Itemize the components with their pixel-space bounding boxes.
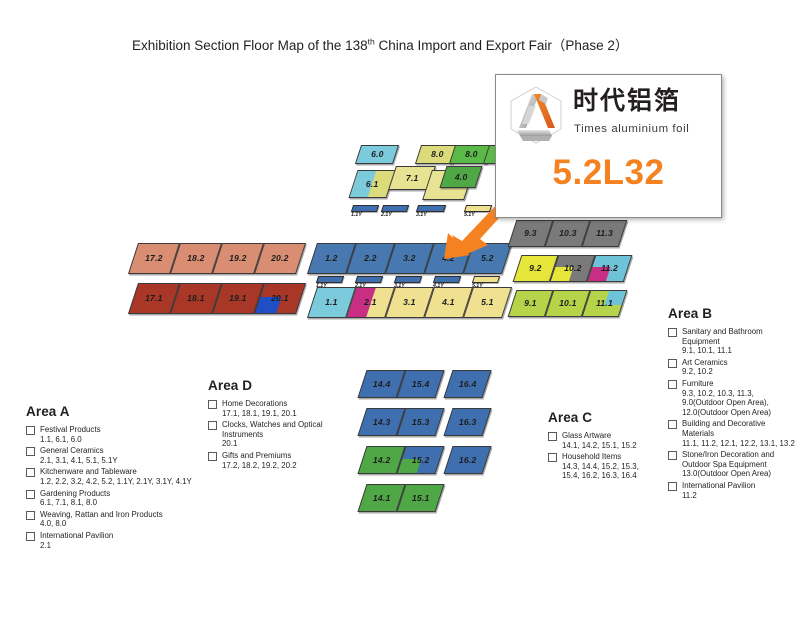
- legend-color-swatch: [668, 359, 677, 368]
- legend-item-name: Gifts and Premiums: [222, 451, 348, 461]
- booth-block-label: 7.1: [406, 174, 419, 183]
- connector-label-1-1Y: 1.1Y: [351, 212, 362, 218]
- booth-block-label: 19.1: [229, 294, 247, 303]
- connector-bar-3-1Y[interactable]: [394, 276, 422, 283]
- booth-block-5-1[interactable]: 5.1: [463, 287, 512, 318]
- connector-bar-1-1Y[interactable]: [316, 276, 344, 283]
- booth-block-16-4[interactable]: 16.4: [443, 370, 491, 398]
- legend-item-area-b-4[interactable]: Stone/Iron Decoration and Outdoor Spa Eq…: [668, 450, 796, 479]
- legend-item-area-a-5[interactable]: International Pavilion2.1: [26, 531, 206, 550]
- legend-item-name: Home Decorations: [222, 399, 348, 409]
- legend-item-codes: 1.1, 6.1, 6.0: [40, 435, 206, 445]
- legend-item-codes: 2.1, 3.1, 4.1, 5.1, 5.1Y: [40, 456, 206, 466]
- legend-color-swatch: [548, 432, 557, 441]
- booth-block-label: 15.4: [412, 380, 430, 389]
- legend-area-c-heading: Area C: [548, 410, 658, 425]
- legend-item-codes: 6.1, 7.1, 8.1, 8.0: [40, 498, 206, 508]
- booth-block-6-1[interactable]: 6.1: [348, 170, 395, 198]
- legend-item-area-b-3[interactable]: Building and Decorative Materials11.1, 1…: [668, 419, 796, 448]
- legend-item-name: Kitchenware and Tableware: [40, 467, 206, 477]
- booth-block-label: 14.2: [373, 456, 391, 465]
- booth-block-20-2[interactable]: 20.2: [254, 243, 306, 274]
- legend-item-codes: 4.0, 8.0: [40, 519, 206, 529]
- legend-color-swatch: [208, 421, 217, 430]
- booth-block-label: 17.2: [145, 254, 163, 263]
- booth-block-label: 10.3: [559, 229, 577, 238]
- legend-item-area-a-3[interactable]: Gardening Products6.1, 7.1, 8.1, 8.0: [26, 489, 206, 508]
- title-text-before: Exhibition Section Floor Map of the 138: [132, 38, 368, 53]
- legend-color-swatch: [548, 453, 557, 462]
- booth-block-15-3[interactable]: 15.3: [396, 408, 444, 436]
- booth-block-split-fill: [588, 267, 611, 281]
- legend-item-area-c-0[interactable]: Glass Artware14.1, 14.2, 15.1, 15.2: [548, 431, 658, 450]
- booth-block-label: 14.4: [373, 380, 391, 389]
- connector-label-3-1Y: 3.1Y: [394, 283, 405, 289]
- connector-bar-4-1Y[interactable]: [433, 276, 461, 283]
- booth-block-label: 11.3: [596, 229, 613, 238]
- booth-block-16-2[interactable]: 16.2: [443, 446, 491, 474]
- booth-block-label: 15.3: [412, 418, 430, 427]
- booth-block-6-0[interactable]: 6.0: [355, 145, 399, 164]
- legend-color-swatch: [26, 426, 35, 435]
- legend-color-swatch: [26, 447, 35, 456]
- legend-item-codes: 1.2, 2.2, 3.2, 4.2, 5.2, 1.1Y, 2.1Y, 3.1…: [40, 477, 206, 487]
- booth-block-20-1[interactable]: 20.1: [254, 283, 306, 314]
- legend-item-area-b-0[interactable]: Sanitary and Bathroom Equipment9.1, 10.1…: [668, 327, 796, 356]
- legend-item-codes: 14.1, 14.2, 15.1, 15.2: [562, 441, 658, 451]
- connector-label-4-1Y: 4.1Y: [433, 283, 444, 289]
- exhibitor-logo-card: 时代铝箔 Times aluminium foil 5.2L32: [495, 74, 722, 218]
- connector-bar-2-1Y[interactable]: [355, 276, 383, 283]
- booth-block-label: 8.0: [431, 150, 444, 159]
- booth-block-label: 18.2: [187, 254, 205, 263]
- legend-color-swatch: [668, 420, 677, 429]
- legend-item-area-b-1[interactable]: Art Ceramics9.2, 10.2: [668, 358, 796, 377]
- booth-block-15-4[interactable]: 15.4: [396, 370, 444, 398]
- booth-block-label: 3.2: [403, 254, 416, 263]
- booth-block-label: 4.0: [455, 173, 468, 182]
- legend-color-swatch: [26, 490, 35, 499]
- legend-area-d: Area D Home Decorations17.1, 18.1, 19.1,…: [208, 378, 348, 472]
- legend-item-name: Building and Decorative Materials: [682, 419, 796, 438]
- booth-block-label: 14.1: [373, 494, 391, 503]
- booth-block-label: 9.2: [529, 264, 542, 273]
- booth-block-label: 3.1: [403, 298, 416, 307]
- legend-item-name: Household Items: [562, 452, 658, 462]
- booth-block-split-fill: [398, 459, 422, 473]
- legend-item-codes: 17.1, 18.1, 19.1, 20.1: [222, 409, 348, 419]
- legend-item-name: Furniture: [682, 379, 796, 389]
- booth-block-16-3[interactable]: 16.3: [443, 408, 491, 436]
- booth-block-label: 18.1: [187, 294, 205, 303]
- booth-block-11-1[interactable]: 11.1: [582, 290, 628, 317]
- booth-block-11-3[interactable]: 11.3: [582, 220, 628, 247]
- title-text-after: China Import and Export Fair（Phase 2）: [379, 38, 629, 53]
- legend-item-area-a-2[interactable]: Kitchenware and Tableware1.2, 2.2, 3.2, …: [26, 467, 206, 486]
- booth-block-label: 15.1: [412, 494, 430, 503]
- legend-item-area-b-2[interactable]: Furniture9.3, 10.2, 10.3, 11.3, 9.0(Outd…: [668, 379, 796, 417]
- legend-item-area-d-1[interactable]: Clocks, Watches and Optical Instruments2…: [208, 420, 348, 449]
- legend-area-d-heading: Area D: [208, 378, 348, 393]
- legend-item-codes: 9.3, 10.2, 10.3, 11.3, 9.0(Outdoor Open …: [682, 389, 796, 418]
- legend-item-codes: 17.2, 18.2, 19.2, 20.2: [222, 461, 348, 471]
- connector-label-3-1Y: 3.1Y: [416, 212, 427, 218]
- booth-block-label: 1.2: [325, 254, 338, 263]
- legend-item-area-a-1[interactable]: General Ceramics2.1, 3.1, 4.1, 5.1, 5.1Y: [26, 446, 206, 465]
- logo-header-row: 时代铝箔 Times aluminium foil: [505, 84, 713, 146]
- connector-label-5-1Y: 5.1Y: [472, 283, 483, 289]
- legend-item-area-a-4[interactable]: Weaving, Rattan and Iron Products4.0, 8.…: [26, 510, 206, 529]
- legend-item-name: Festival Products: [40, 425, 206, 435]
- legend-item-codes: 9.1, 10.1, 11.1: [682, 346, 796, 356]
- booth-block-label: 4.1: [442, 298, 455, 307]
- booth-block-label: 9.3: [524, 229, 537, 238]
- brand-name-english: Times aluminium foil: [574, 123, 689, 135]
- legend-area-b-heading: Area B: [668, 306, 796, 321]
- legend-item-codes: 11.2: [682, 491, 796, 501]
- booth-block-label: 16.4: [459, 380, 477, 389]
- booth-block-11-2[interactable]: 11.2: [587, 255, 633, 282]
- legend-item-codes: 14.3, 14.4, 15.2, 15.3, 15.4, 16.2, 16.3…: [562, 462, 658, 481]
- booth-block-label: 9.1: [524, 299, 537, 308]
- booth-number: 5.2L32: [496, 153, 721, 193]
- booth-block-split-fill: [350, 171, 376, 197]
- legend-item-codes: 11.1, 11.2, 12.1, 12.2, 13.1, 13.2: [682, 439, 796, 449]
- legend-item-name: International Pavilion: [40, 531, 206, 541]
- booth-block-15-2[interactable]: 15.2: [396, 446, 444, 474]
- legend-item-name: Stone/Iron Decoration and Outdoor Spa Eq…: [682, 450, 796, 469]
- page-title: Exhibition Section Floor Map of the 138t…: [132, 34, 628, 54]
- legend-item-area-c-1[interactable]: Household Items14.3, 14.4, 15.2, 15.3, 1…: [548, 452, 658, 481]
- floor-map-page: Exhibition Section Floor Map of the 138t…: [0, 0, 800, 640]
- booth-block-label: 1.1: [325, 298, 338, 307]
- booth-block-4-0[interactable]: 4.0: [439, 166, 482, 188]
- connector-label-2-1Y: 2.1Y: [355, 283, 366, 289]
- legend-item-codes: 13.0(Outdoor Open Area): [682, 469, 796, 479]
- legend-item-area-b-5[interactable]: International Pavilion11.2: [668, 481, 796, 500]
- connector-bar-2-1Y[interactable]: [381, 205, 409, 212]
- booth-block-label: 14.3: [373, 418, 391, 427]
- connector-bar-1-1Y[interactable]: [351, 205, 379, 212]
- connector-label-1-1Y: 1.1Y: [316, 283, 327, 289]
- legend-area-a: Area A Festival Products1.1, 6.1, 6.0Gen…: [26, 404, 206, 552]
- legend-area-a-heading: Area A: [26, 404, 206, 419]
- booth-block-label: 20.2: [271, 254, 289, 263]
- legend-color-swatch: [26, 532, 35, 541]
- times-aluminium-foil-logo-icon: [505, 84, 567, 146]
- legend-item-codes: 9.2, 10.2: [682, 367, 796, 377]
- legend-item-name: Sanitary and Bathroom Equipment: [682, 327, 796, 346]
- legend-item-area-a-0[interactable]: Festival Products1.1, 6.1, 6.0: [26, 425, 206, 444]
- booth-block-label: 8.0: [465, 150, 478, 159]
- booth-block-label: 17.1: [145, 294, 163, 303]
- legend-item-codes: 20.1: [222, 439, 348, 449]
- legend-color-swatch: [668, 380, 677, 389]
- connector-label-2-1Y: 2.1Y: [381, 212, 392, 218]
- legend-item-name: Gardening Products: [40, 489, 206, 499]
- booth-block-split-fill: [605, 291, 626, 305]
- legend-area-b: Area B Sanitary and Bathroom Equipment9.…: [668, 306, 796, 502]
- legend-item-name: International Pavilion: [682, 481, 796, 491]
- booth-block-split-fill: [255, 297, 281, 313]
- booth-block-label: 2.2: [364, 254, 377, 263]
- booth-block-label: 6.0: [371, 150, 384, 159]
- legend-color-swatch: [668, 482, 677, 491]
- title-superscript: th: [368, 37, 375, 47]
- brand-name-chinese: 时代铝箔: [573, 86, 681, 116]
- connector-bar-5-1Y[interactable]: [472, 276, 500, 283]
- booth-block-label: 19.2: [229, 254, 247, 263]
- legend-item-name: Weaving, Rattan and Iron Products: [40, 510, 206, 520]
- legend-item-name: Glass Artware: [562, 431, 658, 441]
- legend-color-swatch: [26, 511, 35, 520]
- legend-area-c: Area C Glass Artware14.1, 14.2, 15.1, 15…: [548, 410, 658, 483]
- legend-item-name: Art Ceramics: [682, 358, 796, 368]
- legend-color-swatch: [208, 400, 217, 409]
- booth-block-label: 10.1: [559, 299, 577, 308]
- legend-item-codes: 2.1: [40, 541, 206, 551]
- legend-item-name: General Ceramics: [40, 446, 206, 456]
- legend-item-name: Clocks, Watches and Optical Instruments: [222, 420, 348, 439]
- booth-block-label: 16.3: [459, 418, 477, 427]
- legend-color-swatch: [26, 468, 35, 477]
- legend-item-area-d-0[interactable]: Home Decorations17.1, 18.1, 19.1, 20.1: [208, 399, 348, 418]
- legend-color-swatch: [668, 328, 677, 337]
- legend-color-swatch: [208, 452, 217, 461]
- booth-block-15-1[interactable]: 15.1: [396, 484, 444, 512]
- legend-item-area-d-2[interactable]: Gifts and Premiums17.2, 18.2, 19.2, 20.2: [208, 451, 348, 470]
- booth-block-split-fill: [551, 267, 574, 281]
- booth-block-label: 5.1: [481, 298, 494, 307]
- legend-color-swatch: [668, 451, 677, 460]
- booth-block-label: 16.2: [459, 456, 477, 465]
